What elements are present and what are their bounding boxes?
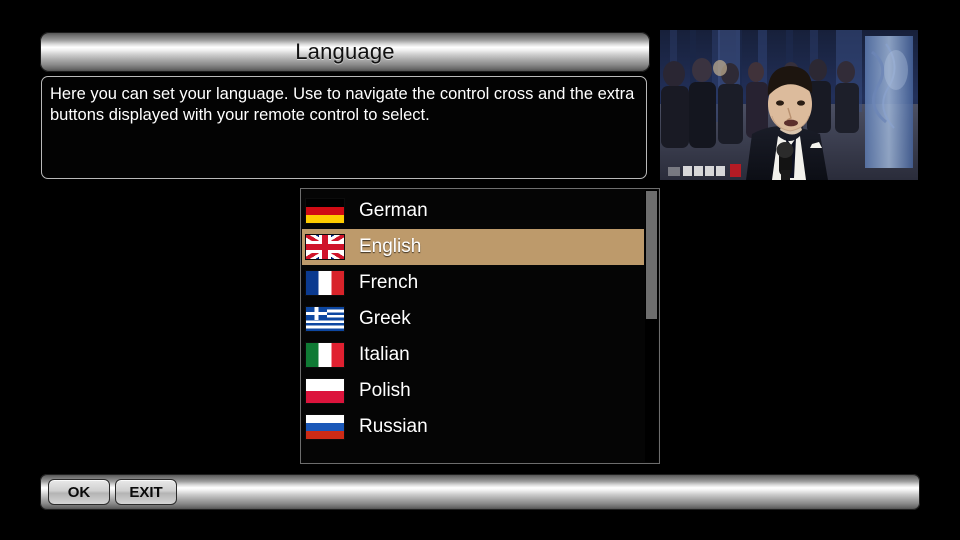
flag-fr-icon — [305, 270, 345, 296]
list-scrollbar[interactable] — [645, 190, 658, 462]
description-text: Here you can set your language. Use to n… — [50, 84, 638, 126]
list-item[interactable]: Greek — [302, 301, 644, 337]
ok-button[interactable]: OK — [48, 479, 110, 505]
language-label: Polish — [359, 380, 411, 402]
list-item[interactable]: Italian — [302, 337, 644, 373]
scrollbar-thumb[interactable] — [646, 191, 657, 319]
flag-de-icon — [305, 198, 345, 224]
list-item[interactable]: French — [302, 265, 644, 301]
flag-it-icon — [305, 342, 345, 368]
flag-gr-icon — [305, 306, 345, 332]
video-frame — [660, 30, 918, 180]
list-item[interactable]: Russian — [302, 409, 644, 445]
flag-gb-icon — [305, 234, 345, 260]
list-item-selected[interactable]: English — [302, 229, 644, 265]
tv-settings-screen: Language Here you can set your language.… — [0, 0, 960, 540]
language-label: German — [359, 200, 428, 222]
list-item[interactable]: German — [302, 193, 644, 229]
video-preview[interactable] — [660, 30, 918, 180]
language-list: German English French Greek Italian — [302, 193, 644, 445]
language-list-panel[interactable]: German English French Greek Italian — [300, 188, 660, 464]
list-item[interactable]: Polish — [302, 373, 644, 409]
softkey-bar: OK EXIT — [40, 474, 920, 510]
page-title-bar: Language — [40, 32, 650, 72]
language-label: French — [359, 272, 418, 294]
language-label: Italian — [359, 344, 410, 366]
flag-pl-icon — [305, 378, 345, 404]
page-title: Language — [295, 39, 394, 65]
language-label: Greek — [359, 308, 411, 330]
exit-button[interactable]: EXIT — [115, 479, 177, 505]
flag-ru-icon — [305, 414, 345, 440]
language-label: English — [359, 236, 421, 258]
language-label: Russian — [359, 416, 428, 438]
description-panel: Here you can set your language. Use to n… — [41, 76, 647, 179]
